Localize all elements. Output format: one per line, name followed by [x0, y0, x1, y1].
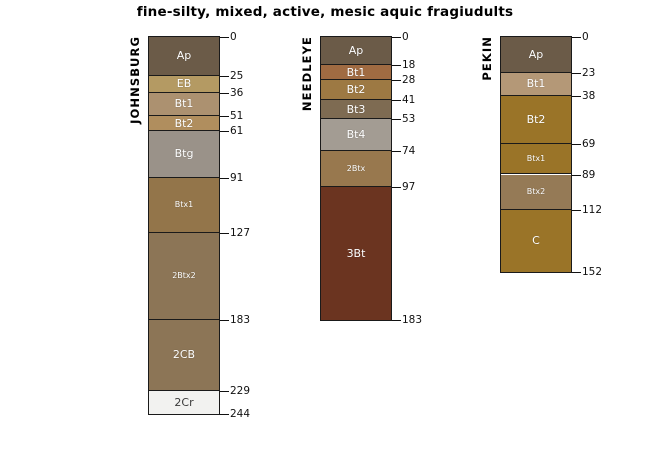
depth-tick-label: 53: [402, 114, 415, 125]
depth-tick-line: [220, 391, 229, 392]
horizon-label: Btx1: [527, 155, 545, 163]
horizon-btx1[interactable]: Btx1: [149, 178, 219, 234]
horizon-label: C: [532, 235, 540, 246]
depth-tick-line: [392, 100, 401, 101]
depth-tick-line: [220, 233, 229, 234]
horizon-bt2[interactable]: Bt2: [149, 116, 219, 131]
profile-name-label: JOHNSBURG: [128, 36, 142, 124]
horizon-label: Bt1: [527, 78, 546, 89]
horizon-label: 2Cr: [174, 397, 193, 408]
profile-bar: ApBt1Bt2Btx1Btx2C: [500, 36, 572, 273]
horizon-label: Bt3: [347, 104, 366, 115]
horizon-bt1[interactable]: Bt1: [149, 93, 219, 116]
horizon-ap[interactable]: Ap: [149, 37, 219, 76]
horizon-label: Bt2: [527, 114, 546, 125]
depth-tick-line: [572, 175, 581, 176]
depth-tick-label: 89: [582, 170, 595, 181]
depth-tick-line: [220, 320, 229, 321]
depth-tick-label: 36: [230, 88, 243, 99]
depth-tick-label: 18: [402, 60, 415, 71]
horizon-label: 2CB: [173, 349, 195, 360]
horizon-label: 2Btx2: [172, 272, 196, 280]
depth-tick-line: [220, 131, 229, 132]
depth-tick-label: 69: [582, 139, 595, 150]
profile-name-label: NEEDLEYE: [300, 36, 314, 111]
depth-tick-label: 183: [402, 315, 422, 326]
horizon-3bt[interactable]: 3Bt: [321, 187, 391, 320]
horizon-label: 2Btx: [347, 165, 365, 173]
horizon-2btx[interactable]: 2Btx: [321, 151, 391, 187]
depth-tick-line: [392, 119, 401, 120]
page-title: fine-silty, mixed, active, mesic aquic f…: [0, 4, 650, 20]
depth-tick-line: [392, 187, 401, 188]
depth-tick-line: [220, 178, 229, 179]
profile-bar: ApEBBt1Bt2BtgBtx12Btx22CB2Cr: [148, 36, 220, 415]
horizon-ap[interactable]: Ap: [321, 37, 391, 65]
horizon-ap[interactable]: Ap: [501, 37, 571, 73]
depth-tick-label: 25: [230, 71, 243, 82]
horizon-bt1[interactable]: Bt1: [501, 73, 571, 96]
depth-tick-label: 0: [230, 32, 237, 43]
depth-tick-line: [220, 37, 229, 38]
depth-tick-line: [572, 73, 581, 74]
depth-tick-line: [572, 272, 581, 273]
depth-tick-line: [572, 37, 581, 38]
horizon-eb[interactable]: EB: [149, 76, 219, 93]
horizon-label: Btg: [175, 148, 194, 159]
depth-tick-label: 28: [402, 75, 415, 86]
horizon-btg[interactable]: Btg: [149, 131, 219, 177]
depth-tick-line: [220, 76, 229, 77]
horizon-bt4[interactable]: Bt4: [321, 119, 391, 151]
horizon-label: Btx1: [175, 201, 193, 209]
profile-name-label: PEKIN: [480, 36, 494, 81]
horizon-label: Bt2: [347, 84, 366, 95]
horizon-bt1[interactable]: Bt1: [321, 65, 391, 80]
horizon-btx1[interactable]: Btx1: [501, 144, 571, 175]
depth-tick-label: 127: [230, 228, 250, 239]
depth-tick-line: [392, 65, 401, 66]
depth-tick-label: 91: [230, 173, 243, 184]
depth-tick-label: 41: [402, 95, 415, 106]
depth-tick-line: [220, 414, 229, 415]
horizon-label: Ap: [177, 50, 192, 61]
depth-tick-line: [220, 116, 229, 117]
depth-tick-label: 74: [402, 146, 415, 157]
depth-tick-label: 38: [582, 91, 595, 102]
depth-tick-label: 229: [230, 386, 250, 397]
depth-tick-label: 112: [582, 205, 602, 216]
horizon-c[interactable]: C: [501, 210, 571, 272]
depth-tick-line: [392, 151, 401, 152]
depth-tick-line: [392, 320, 401, 321]
depth-tick-line: [572, 144, 581, 145]
depth-tick-label: 97: [402, 182, 415, 193]
horizon-label: EB: [177, 78, 192, 89]
horizon-bt2[interactable]: Bt2: [501, 96, 571, 144]
depth-tick-line: [572, 210, 581, 211]
horizon-label: Ap: [529, 49, 544, 60]
depth-tick-line: [220, 93, 229, 94]
depth-tick-line: [392, 80, 401, 81]
horizon-2btx2[interactable]: 2Btx2: [149, 233, 219, 320]
horizon-label: Bt1: [347, 67, 366, 78]
horizon-label: 3Bt: [347, 248, 366, 259]
depth-tick-line: [572, 96, 581, 97]
horizon-label: Ap: [349, 45, 364, 56]
horizon-label: Bt2: [175, 118, 194, 129]
depth-tick-label: 183: [230, 315, 250, 326]
depth-tick-label: 51: [230, 111, 243, 122]
depth-tick-label: 152: [582, 267, 602, 278]
horizon-label: Btx2: [527, 188, 545, 196]
horizon-bt2[interactable]: Bt2: [321, 80, 391, 100]
horizon-2cb[interactable]: 2CB: [149, 320, 219, 391]
depth-tick-label: 244: [230, 409, 250, 420]
profile-bar: ApBt1Bt2Bt3Bt42Btx3Bt: [320, 36, 392, 321]
horizon-label: Bt1: [175, 98, 194, 109]
depth-tick-label: 23: [582, 68, 595, 79]
depth-tick-label: 0: [582, 32, 589, 43]
horizon-2cr[interactable]: 2Cr: [149, 391, 219, 414]
horizon-btx2[interactable]: Btx2: [501, 175, 571, 211]
depth-tick-line: [392, 37, 401, 38]
depth-tick-label: 0: [402, 32, 409, 43]
depth-tick-label: 61: [230, 126, 243, 137]
horizon-bt3[interactable]: Bt3: [321, 100, 391, 119]
horizon-label: Bt4: [347, 129, 366, 140]
